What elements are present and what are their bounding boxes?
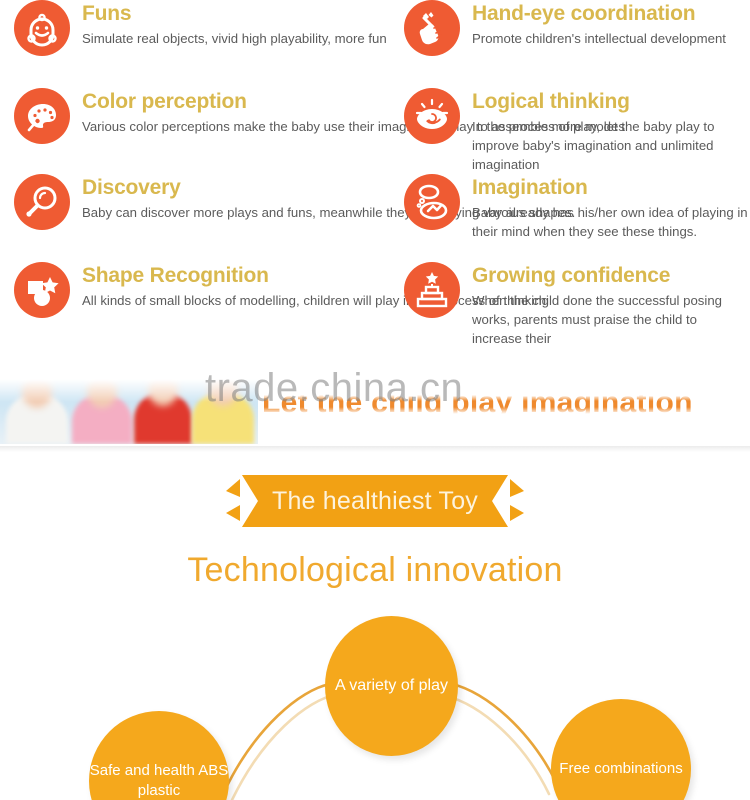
- ribbon-label: The healthiest Toy: [272, 487, 478, 516]
- feature-description: When the child done the successful posin…: [472, 291, 750, 348]
- ribbon-right-tail-icon: [508, 475, 530, 527]
- bubble-variety-of-play: A variety of play: [325, 616, 458, 756]
- feature-item-imagination: Imagination Baby already has his/her own…: [404, 174, 750, 241]
- features-section: Funs Simulate real objects, vivid high p…: [0, 0, 750, 355]
- feature-body: Hand-eye coordination Promote children's…: [472, 0, 726, 48]
- feature-body: Funs Simulate real objects, vivid high p…: [82, 0, 387, 48]
- feature-title: Hand-eye coordination: [472, 1, 726, 27]
- feature-body: Logical thinking In the process of play,…: [472, 88, 750, 174]
- feature-description: In the process of play, let the baby pla…: [472, 117, 750, 174]
- feature-item-growing-confidence: Growing confidence When the child done t…: [404, 262, 750, 348]
- hand-wrench-icon: [404, 0, 460, 56]
- banner-divider: [0, 446, 750, 452]
- feature-item-hand-eye-coordination: Hand-eye coordination Promote children's…: [404, 0, 726, 56]
- feature-item-logical-thinking: Logical thinking In the process of play,…: [404, 88, 750, 174]
- ribbon-banner: The healthiest Toy: [0, 475, 750, 527]
- paint-palette-icon: [14, 88, 70, 144]
- shapes-icon: [14, 262, 70, 318]
- product-detail-page: Funs Simulate real objects, vivid high p…: [0, 0, 750, 800]
- feature-title: Funs: [82, 1, 387, 27]
- feature-body: Growing confidence When the child done t…: [472, 262, 750, 348]
- feature-body: Imagination Baby already has his/her own…: [472, 174, 750, 241]
- watermark-text: trade.china.cn: [205, 366, 463, 411]
- magnifying-glass-icon: [14, 174, 70, 230]
- thought-bubble-icon: [404, 174, 460, 230]
- feature-description: Baby already has his/her own idea of pla…: [472, 203, 750, 241]
- feature-title: Logical thinking: [472, 89, 750, 115]
- baby-face-icon: [14, 0, 70, 56]
- play-concept-diagram: A variety of play Safe and health ABS pl…: [0, 610, 750, 800]
- cake-star-icon: [404, 262, 460, 318]
- feature-title: Imagination: [472, 175, 750, 201]
- feature-description: Simulate real objects, vivid high playab…: [82, 29, 387, 48]
- feature-description: Promote children's intellectual developm…: [472, 29, 726, 48]
- ribbon-left-tail-icon: [220, 475, 242, 527]
- eye-spiral-icon: [404, 88, 460, 144]
- feature-item-funs: Funs Simulate real objects, vivid high p…: [14, 0, 387, 56]
- ribbon-body: The healthiest Toy: [242, 475, 508, 527]
- section-subheading: Technological innovation: [0, 551, 750, 590]
- innovation-section: The healthiest Toy Technological innovat…: [0, 455, 750, 800]
- feature-title: Growing confidence: [472, 263, 750, 289]
